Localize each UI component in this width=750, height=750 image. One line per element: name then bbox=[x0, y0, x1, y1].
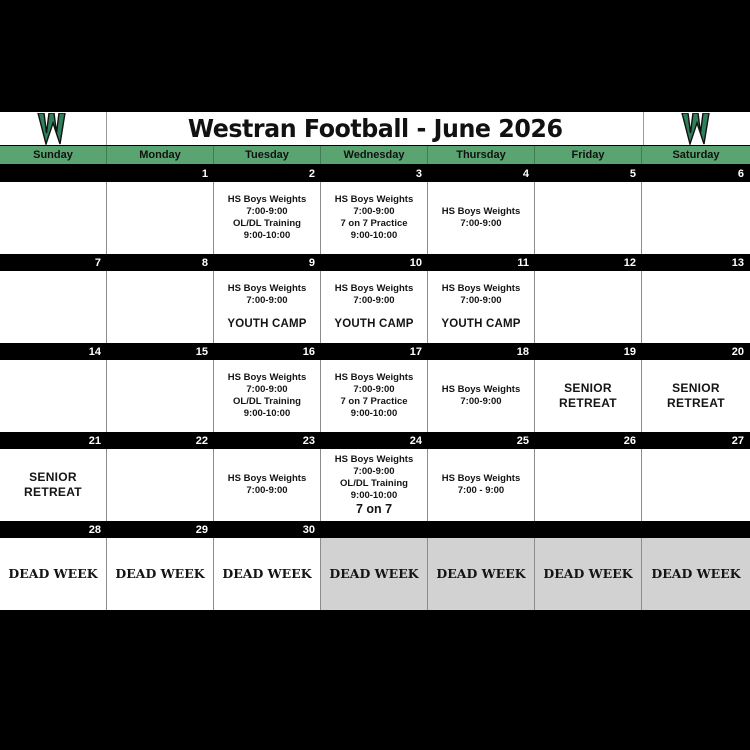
event-text: OL/DL Training bbox=[233, 218, 301, 230]
day-cell[interactable] bbox=[0, 182, 107, 254]
day-cell[interactable] bbox=[107, 271, 214, 343]
date-number: 14 bbox=[0, 343, 107, 360]
day-cell-row: DEAD WEEKDEAD WEEKDEAD WEEKDEAD WEEKDEAD… bbox=[0, 538, 750, 610]
event-text: 7:00-9:00 bbox=[460, 295, 501, 307]
weekday-header-row: Sunday Monday Tuesday Wednesday Thursday… bbox=[0, 145, 750, 165]
calendar-title-text: Westran Football - June 2026 bbox=[188, 114, 563, 143]
event-text: HS Boys Weights bbox=[335, 372, 413, 384]
day-cell[interactable]: DEAD WEEK bbox=[428, 538, 535, 610]
date-number: 28 bbox=[0, 521, 107, 538]
event-text: HS Boys Weights bbox=[335, 283, 413, 295]
day-cell[interactable] bbox=[107, 360, 214, 432]
date-number: 9 bbox=[214, 254, 321, 271]
date-number-row: 123456 bbox=[0, 165, 750, 182]
weekday-friday: Friday bbox=[535, 146, 642, 164]
day-cell[interactable] bbox=[535, 182, 642, 254]
event-text: OL/DL Training bbox=[340, 478, 408, 490]
date-number: 10 bbox=[321, 254, 428, 271]
date-number: 20 bbox=[642, 343, 750, 360]
event-text: DEAD WEEK bbox=[651, 568, 740, 580]
event-text: 7:00-9:00 bbox=[353, 384, 394, 396]
date-number: 27 bbox=[642, 432, 750, 449]
weekday-thursday: Thursday bbox=[428, 146, 535, 164]
date-number: 23 bbox=[214, 432, 321, 449]
event-text: 7:00-9:00 bbox=[460, 218, 501, 230]
day-cell[interactable]: HS Boys Weights7:00-9:00OL/DL Training9:… bbox=[214, 360, 321, 432]
event-text: RETREAT bbox=[24, 485, 82, 500]
event-text: YOUTH CAMP bbox=[227, 316, 306, 332]
date-number: 7 bbox=[0, 254, 107, 271]
event-text: 9:00-10:00 bbox=[244, 408, 290, 420]
event-text: 7:00 - 9:00 bbox=[458, 485, 504, 497]
day-cell-row: HS Boys Weights7:00-9:00OL/DL Training9:… bbox=[0, 182, 750, 254]
date-number bbox=[642, 521, 750, 538]
day-cell[interactable] bbox=[107, 182, 214, 254]
event-text: HS Boys Weights bbox=[442, 206, 520, 218]
date-number: 4 bbox=[428, 165, 535, 182]
event-text: 7:00-9:00 bbox=[246, 295, 287, 307]
weekday-sunday: Sunday bbox=[0, 146, 107, 164]
date-number: 12 bbox=[535, 254, 642, 271]
calendar-week-row: 282930DEAD WEEKDEAD WEEKDEAD WEEKDEAD WE… bbox=[0, 521, 750, 610]
calendar-bottom-border bbox=[0, 610, 750, 612]
calendar-week-row: 123456HS Boys Weights7:00-9:00OL/DL Trai… bbox=[0, 165, 750, 254]
day-cell[interactable]: HS Boys Weights7:00-9:00YOUTH CAMP bbox=[214, 271, 321, 343]
weekday-wednesday: Wednesday bbox=[321, 146, 428, 164]
date-number: 3 bbox=[321, 165, 428, 182]
event-text: RETREAT bbox=[667, 396, 725, 411]
event-text: HS Boys Weights bbox=[228, 194, 306, 206]
day-cell[interactable]: DEAD WEEK bbox=[535, 538, 642, 610]
day-cell[interactable]: HS Boys Weights7:00-9:007 on 7 Practice9… bbox=[321, 182, 428, 254]
event-text: HS Boys Weights bbox=[442, 384, 520, 396]
day-cell[interactable]: DEAD WEEK bbox=[642, 538, 750, 610]
date-number-row: 14151617181920 bbox=[0, 343, 750, 360]
date-number: 15 bbox=[107, 343, 214, 360]
date-number: 30 bbox=[214, 521, 321, 538]
event-text: 7:00-9:00 bbox=[246, 206, 287, 218]
day-cell[interactable]: DEAD WEEK bbox=[214, 538, 321, 610]
date-number: 17 bbox=[321, 343, 428, 360]
day-cell[interactable] bbox=[0, 360, 107, 432]
calendar-week-row: 14151617181920HS Boys Weights7:00-9:00OL… bbox=[0, 343, 750, 432]
event-text: HS Boys Weights bbox=[228, 283, 306, 295]
date-number: 18 bbox=[428, 343, 535, 360]
date-number bbox=[428, 521, 535, 538]
event-text: SENIOR bbox=[29, 470, 77, 485]
date-number: 8 bbox=[107, 254, 214, 271]
event-text: HS Boys Weights bbox=[335, 454, 413, 466]
event-text: 9:00-10:00 bbox=[351, 230, 397, 242]
day-cell-row: HS Boys Weights7:00-9:00OL/DL Training9:… bbox=[0, 360, 750, 432]
event-text: HS Boys Weights bbox=[442, 473, 520, 485]
day-cell[interactable] bbox=[642, 449, 750, 521]
event-text: HS Boys Weights bbox=[442, 283, 520, 295]
day-cell[interactable]: DEAD WEEK bbox=[321, 538, 428, 610]
date-number: 11 bbox=[428, 254, 535, 271]
event-text: HS Boys Weights bbox=[335, 194, 413, 206]
date-number-row: 282930 bbox=[0, 521, 750, 538]
event-text: 7:00-9:00 bbox=[353, 466, 394, 478]
day-cell[interactable]: HS Boys Weights7:00 - 9:00 bbox=[428, 449, 535, 521]
event-text: 9:00-10:00 bbox=[351, 490, 397, 502]
event-text: YOUTH CAMP bbox=[334, 316, 413, 332]
day-cell[interactable]: HS Boys Weights7:00-9:00 bbox=[214, 449, 321, 521]
event-text: SENIOR bbox=[564, 381, 612, 396]
event-text: 7:00-9:00 bbox=[246, 384, 287, 396]
day-cell[interactable]: HS Boys Weights7:00-9:00 bbox=[428, 360, 535, 432]
date-number: 16 bbox=[214, 343, 321, 360]
event-text: 7:00-9:00 bbox=[460, 396, 501, 408]
day-cell[interactable]: HS Boys Weights7:00-9:007 on 7 Practice9… bbox=[321, 360, 428, 432]
date-number: 13 bbox=[642, 254, 750, 271]
date-number: 24 bbox=[321, 432, 428, 449]
day-cell[interactable]: HS Boys Weights7:00-9:00 bbox=[428, 182, 535, 254]
calendar-week-row: 21222324252627SENIORRETREATHS Boys Weigh… bbox=[0, 432, 750, 521]
event-text: 9:00-10:00 bbox=[351, 408, 397, 420]
day-cell[interactable]: HS Boys Weights7:00-9:00OL/DL Training9:… bbox=[321, 449, 428, 521]
event-text: YOUTH CAMP bbox=[441, 316, 520, 332]
date-number: 26 bbox=[535, 432, 642, 449]
event-text: 7:00-9:00 bbox=[353, 206, 394, 218]
event-text: SENIOR bbox=[672, 381, 720, 396]
date-number bbox=[0, 165, 107, 182]
event-text: OL/DL Training bbox=[233, 396, 301, 408]
day-cell[interactable]: HS Boys Weights7:00-9:00YOUTH CAMP bbox=[428, 271, 535, 343]
event-text: HS Boys Weights bbox=[228, 372, 306, 384]
date-number: 25 bbox=[428, 432, 535, 449]
day-cell[interactable]: SENIORRETREAT bbox=[0, 449, 107, 521]
day-cell[interactable]: DEAD WEEK bbox=[107, 538, 214, 610]
weekday-saturday: Saturday bbox=[642, 146, 750, 164]
date-number bbox=[535, 521, 642, 538]
day-cell[interactable] bbox=[642, 271, 750, 343]
event-text: 7 on 7 Practice bbox=[340, 396, 407, 408]
event-text: HS Boys Weights bbox=[228, 473, 306, 485]
date-number: 2 bbox=[214, 165, 321, 182]
calendar-body: 123456HS Boys Weights7:00-9:00OL/DL Trai… bbox=[0, 165, 750, 610]
event-text: RETREAT bbox=[559, 396, 617, 411]
date-number: 22 bbox=[107, 432, 214, 449]
day-cell[interactable] bbox=[107, 449, 214, 521]
date-number: 21 bbox=[0, 432, 107, 449]
monthly-calendar: Westran Football - June 2026 Sunday Mond… bbox=[0, 110, 750, 612]
date-number-row: 78910111213 bbox=[0, 254, 750, 271]
event-text: 7 on 7 Practice bbox=[340, 218, 407, 230]
event-text: 7:00-9:00 bbox=[246, 485, 287, 497]
date-number: 29 bbox=[107, 521, 214, 538]
date-number: 1 bbox=[107, 165, 214, 182]
event-text: DEAD WEEK bbox=[543, 568, 632, 580]
date-number: 6 bbox=[642, 165, 750, 182]
day-cell[interactable]: SENIORRETREAT bbox=[642, 360, 750, 432]
date-number: 5 bbox=[535, 165, 642, 182]
calendar-week-row: 78910111213HS Boys Weights7:00-9:00YOUTH… bbox=[0, 254, 750, 343]
day-cell-row: HS Boys Weights7:00-9:00YOUTH CAMPHS Boy… bbox=[0, 271, 750, 343]
weekday-tuesday: Tuesday bbox=[214, 146, 321, 164]
day-cell[interactable]: DEAD WEEK bbox=[0, 538, 107, 610]
event-text: DEAD WEEK bbox=[222, 568, 311, 580]
day-cell[interactable]: SENIORRETREAT bbox=[535, 360, 642, 432]
day-cell-row: SENIORRETREATHS Boys Weights7:00-9:00HS … bbox=[0, 449, 750, 521]
page-title: Westran Football - June 2026 bbox=[107, 112, 643, 145]
date-number: 19 bbox=[535, 343, 642, 360]
date-number-row: 21222324252627 bbox=[0, 432, 750, 449]
day-cell[interactable]: HS Boys Weights7:00-9:00YOUTH CAMP bbox=[321, 271, 428, 343]
westran-w-logo-right bbox=[643, 112, 750, 145]
event-text: 7 on 7 bbox=[356, 502, 392, 516]
event-text: DEAD WEEK bbox=[115, 568, 204, 580]
calendar-page: Westran Football - June 2026 Sunday Mond… bbox=[0, 0, 750, 750]
event-text: DEAD WEEK bbox=[329, 568, 418, 580]
date-number bbox=[321, 521, 428, 538]
westran-w-logo-left bbox=[0, 112, 107, 145]
day-cell[interactable] bbox=[642, 182, 750, 254]
calendar-title-band: Westran Football - June 2026 bbox=[0, 110, 750, 145]
day-cell[interactable]: HS Boys Weights7:00-9:00OL/DL Training9:… bbox=[214, 182, 321, 254]
event-text: DEAD WEEK bbox=[436, 568, 525, 580]
event-text: 7:00-9:00 bbox=[353, 295, 394, 307]
day-cell[interactable] bbox=[0, 271, 107, 343]
event-text: 9:00-10:00 bbox=[244, 230, 290, 242]
weekday-monday: Monday bbox=[107, 146, 214, 164]
event-text: DEAD WEEK bbox=[8, 568, 97, 580]
day-cell[interactable] bbox=[535, 271, 642, 343]
day-cell[interactable] bbox=[535, 449, 642, 521]
